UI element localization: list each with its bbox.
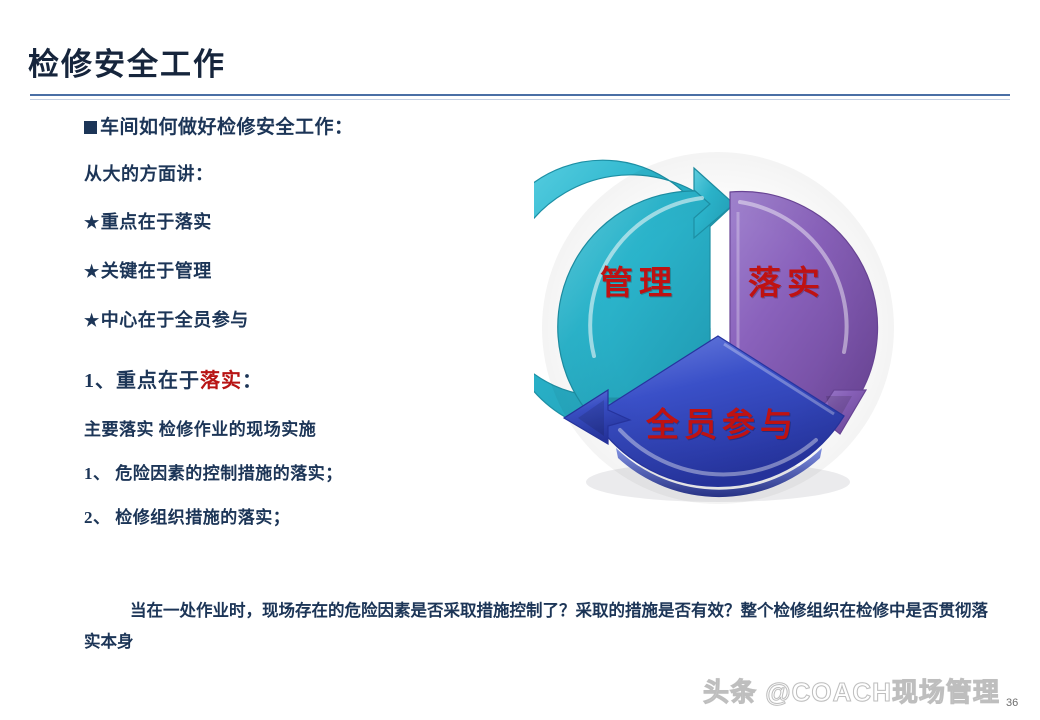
closing-paragraph: 当在一处作业时，现场存在的危险因素是否采取措施控制了？采取的措施是否有效？整个检… — [84, 596, 989, 657]
section-label-plain: 重点在于 — [116, 370, 200, 392]
slide-canvas: 检修安全工作 车间如何做好检修安全工作： 从大的方面讲： ★重点在于落实 ★关键… — [0, 0, 1040, 720]
section-label-highlight: 落实 — [200, 370, 242, 392]
square-bullet-icon — [84, 121, 97, 134]
star-bullet-icon: ★ — [84, 213, 100, 232]
list-item: 1、 危险因素的控制措施的落实； — [84, 465, 514, 482]
section-intro: 主要落实 检修作业的现场实施 — [84, 421, 514, 438]
body-heading: 车间如何做好检修安全工作： — [84, 118, 514, 137]
bullet-item-2: ★中心在于全员参与 — [84, 311, 514, 329]
segment-label-participate: 全员参与 — [646, 398, 798, 446]
star-bullet-icon: ★ — [84, 262, 100, 281]
cycle-diagram: 管理 落实 全员参与 — [534, 152, 894, 512]
body-subheading: 从大的方面讲： — [84, 165, 514, 183]
section-label-colon: ： — [242, 370, 263, 392]
bullet-item-1-text: 关键在于管理 — [101, 261, 212, 281]
body-heading-text: 车间如何做好检修安全工作： — [100, 117, 354, 138]
bullet-item-2-text: 中心在于全员参与 — [101, 310, 249, 330]
title-divider-secondary — [30, 99, 1010, 100]
list-item: 2、 检修组织措施的落实； — [84, 509, 514, 526]
watermark: 头条 @COACH现场管理 — [703, 672, 1000, 709]
page-number: 36 — [1006, 697, 1018, 709]
bullet-item-0: ★重点在于落实 — [84, 213, 514, 231]
title-divider — [30, 94, 1010, 96]
bullet-item-1: ★关键在于管理 — [84, 262, 514, 280]
bullet-item-0-text: 重点在于落实 — [101, 212, 212, 232]
section-heading: 1、重点在于落实： — [84, 371, 514, 391]
segment-label-implement: 落实 — [748, 256, 826, 304]
body-text-column: 车间如何做好检修安全工作： 从大的方面讲： ★重点在于落实 ★关键在于管理 ★中… — [84, 118, 514, 553]
page-title: 检修安全工作 — [28, 39, 226, 84]
section-number: 1、 — [84, 370, 116, 392]
segment-label-manage: 管理 — [600, 256, 678, 304]
star-bullet-icon: ★ — [84, 311, 100, 330]
